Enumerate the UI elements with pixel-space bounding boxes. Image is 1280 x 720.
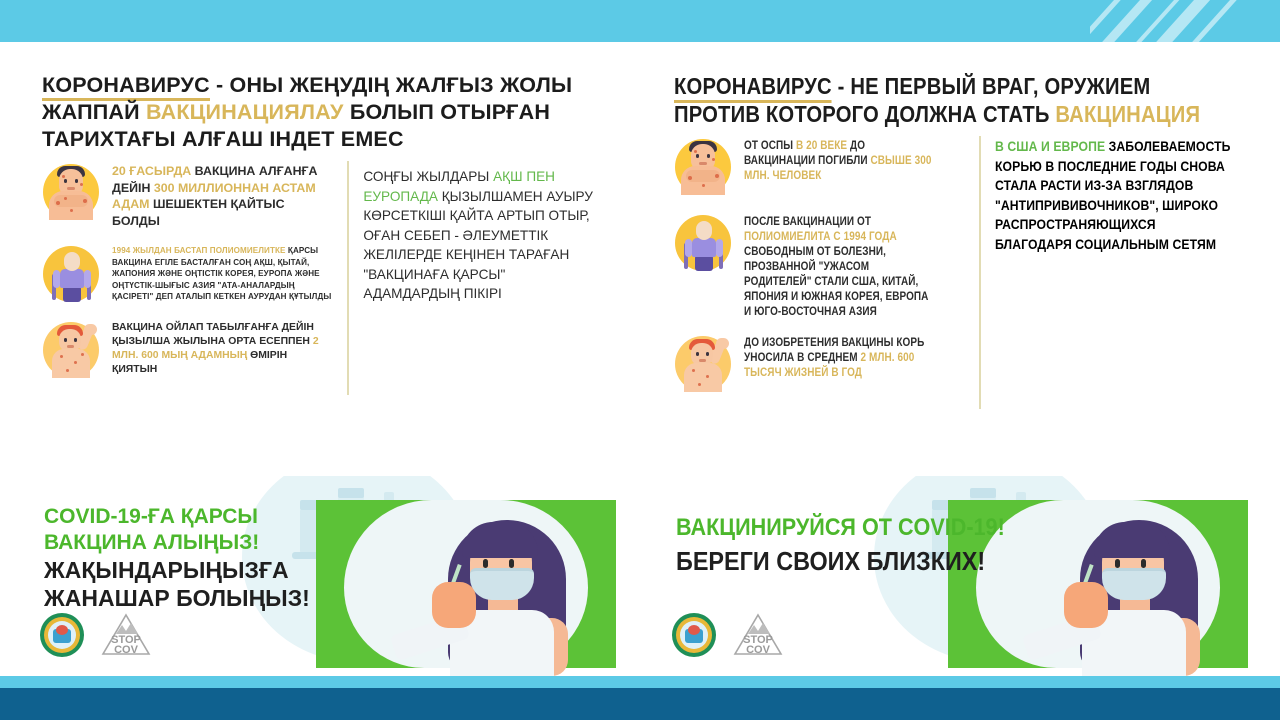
facts-column: ОТ ОСПЫ В 20 ВЕКЕ ДО ВАКЦИНАЦИИ ПОГИБЛИ …	[672, 136, 965, 409]
call-to-action-banner: COVID-19-ҒА ҚАРСЫ ВАКЦИНА АЛЫҢЫЗ! ЖАҚЫНД…	[16, 476, 622, 676]
side-note-column: СОҢҒЫ ЖЫЛДАРЫ АҚШ ПЕН ЕУРОПАДА ҚЫЗЫЛШАМЕ…	[347, 161, 600, 395]
measles-boy-icon	[40, 319, 102, 381]
state-emblem-logo	[672, 613, 716, 657]
slide-header: КОРОНАВИРУС - НЕ ПЕРВЫЙ ВРАГ, ОРУЖИЕМ ПР…	[648, 52, 1254, 128]
nurse-illustration	[1024, 496, 1224, 676]
slogan-line-4: ЖАНАШАР БОЛЫҢЫЗ!	[44, 584, 374, 612]
page-title: КОРОНАВИРУС - ОНЫ ЖЕҢУДІҢ ЖАЛҒЫЗ ЖОЛЫ ЖА…	[42, 72, 596, 153]
fact-item: ДО ИЗОБРЕТЕНИЯ ВАКЦИНЫ КОРЬ УНОСИЛА В СР…	[672, 333, 965, 395]
polio-boy-crutches-icon	[672, 212, 734, 274]
slogan-line-1: COVID-19-ҒА ҚАРСЫ	[44, 504, 374, 530]
slogan-line-3: ЖАҚЫНДАРЫҢЫЗҒА	[44, 556, 374, 584]
svg-text:COV: COV	[746, 644, 771, 656]
logo-row: STOP COV	[40, 612, 152, 658]
slogan: COVID-19-ҒА ҚАРСЫ ВАКЦИНА АЛЫҢЫЗ! ЖАҚЫНД…	[44, 504, 374, 612]
nurse-illustration	[392, 496, 592, 676]
facts-column: 20 ҒАСЫРДА ВАКЦИНА АЛҒАНҒА ДЕЙІН 300 МИЛ…	[40, 161, 333, 395]
fact-text: 1994 ЖЫЛДАН БАСТАП ПОЛИОМИЕЛИТКЕ ҚАРСЫ В…	[112, 243, 333, 303]
fact-text: 20 ҒАСЫРДА ВАКЦИНА АЛҒАНҒА ДЕЙІН 300 МИЛ…	[112, 161, 333, 229]
side-note-text: СОҢҒЫ ЖЫЛДАРЫ АҚШ ПЕН ЕУРОПАДА ҚЫЗЫЛШАМЕ…	[363, 167, 600, 304]
slogan-line-1: ВАКЦИНИРУЙСЯ ОТ COVID-19!	[676, 512, 1006, 544]
logo-row: STOP COV	[672, 612, 784, 658]
state-emblem-logo	[40, 613, 84, 657]
call-to-action-banner: ВАКЦИНИРУЙСЯ ОТ COVID-19! БЕРЕГИ СВОИХ Б…	[648, 476, 1254, 676]
stop-cov-logo: STOP COV	[100, 612, 152, 658]
slide-body: 20 ҒАСЫРДА ВАКЦИНА АЛҒАНҒА ДЕЙІН 300 МИЛ…	[16, 153, 622, 395]
slide-body: ОТ ОСПЫ В 20 ВЕКЕ ДО ВАКЦИНАЦИИ ПОГИБЛИ …	[648, 128, 1254, 409]
slide-russian: КОРОНАВИРУС - НЕ ПЕРВЫЙ ВРАГ, ОРУЖИЕМ ПР…	[648, 52, 1254, 676]
slide-kazakh: КОРОНАВИРУС - ОНЫ ЖЕҢУДІҢ ЖАЛҒЫЗ ЖОЛЫ ЖА…	[16, 52, 622, 676]
polio-boy-crutches-icon	[40, 243, 102, 305]
fact-item: ОТ ОСПЫ В 20 ВЕКЕ ДО ВАКЦИНАЦИИ ПОГИБЛИ …	[672, 136, 965, 198]
slide-header: КОРОНАВИРУС - ОНЫ ЖЕҢУДІҢ ЖАЛҒЫЗ ЖОЛЫ ЖА…	[16, 52, 622, 153]
stop-cov-logo: STOP COV	[732, 612, 784, 658]
page-title: КОРОНАВИРУС - НЕ ПЕРВЫЙ ВРАГ, ОРУЖИЕМ ПР…	[674, 72, 1225, 128]
fact-text: ОТ ОСПЫ В 20 ВЕКЕ ДО ВАКЦИНАЦИИ ПОГИБЛИ …	[744, 136, 934, 183]
side-note-text: В США И ЕВРОПЕ ЗАБОЛЕВАЕМОСТЬ КОРЬЮ В ПО…	[995, 138, 1231, 256]
fact-item: 20 ҒАСЫРДА ВАКЦИНА АЛҒАНҒА ДЕЙІН 300 МИЛ…	[40, 161, 333, 229]
slogan: ВАКЦИНИРУЙСЯ ОТ COVID-19! БЕРЕГИ СВОИХ Б…	[676, 512, 1006, 578]
smallpox-man-icon	[672, 136, 734, 198]
svg-text:COV: COV	[114, 644, 139, 656]
fact-item: ВАКЦИНА ОЙЛАП ТАБЫЛҒАНҒА ДЕЙІН ҚЫЗЫЛША Ж…	[40, 319, 333, 381]
fact-item: 1994 ЖЫЛДАН БАСТАП ПОЛИОМИЕЛИТКЕ ҚАРСЫ В…	[40, 243, 333, 305]
side-note-column: В США И ЕВРОПЕ ЗАБОЛЕВАЕМОСТЬ КОРЬЮ В ПО…	[979, 136, 1232, 409]
smallpox-man-icon	[40, 161, 102, 223]
measles-boy-icon	[672, 333, 734, 395]
fact-item: ПОСЛЕ ВАКЦИНАЦИИ ОТ ПОЛИОМИЕЛИТА С 1994 …	[672, 212, 965, 319]
slogan-line-2: ВАКЦИНА АЛЫҢЫЗ!	[44, 530, 374, 556]
fact-text: ВАКЦИНА ОЙЛАП ТАБЫЛҒАНҒА ДЕЙІН ҚЫЗЫЛША Ж…	[112, 319, 333, 377]
slide-background-footer-band	[0, 688, 1280, 720]
fact-text: ДО ИЗОБРЕТЕНИЯ ВАКЦИНЫ КОРЬ УНОСИЛА В СР…	[744, 333, 934, 380]
slogan-line-3: БЕРЕГИ СВОИХ БЛИЗКИХ!	[676, 544, 1006, 578]
fact-text: ПОСЛЕ ВАКЦИНАЦИИ ОТ ПОЛИОМИЕЛИТА С 1994 …	[744, 212, 934, 319]
